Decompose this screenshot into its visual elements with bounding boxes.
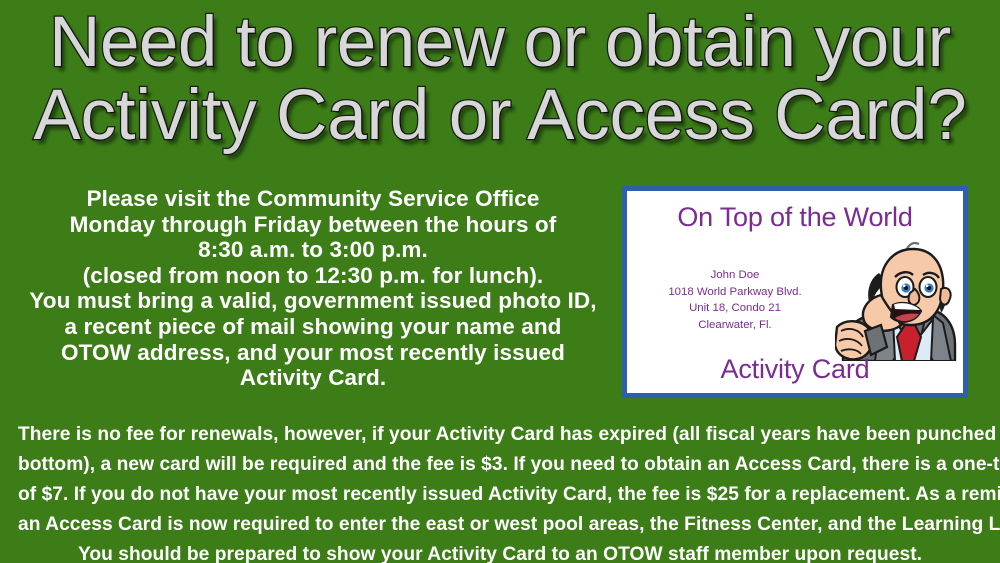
office-hours-info: Please visit the Community Service Offic…	[8, 186, 618, 391]
page-title: Need to renew or obtain your Activity Ca…	[0, 6, 1000, 152]
info-line: Please visit the Community Service Offic…	[8, 186, 618, 212]
info-line: (closed from noon to 12:30 p.m. for lunc…	[8, 263, 618, 289]
activity-card-footer: Activity Card	[627, 353, 963, 385]
cardholder-unit: Unit 18, Condo 21	[635, 300, 835, 317]
fees-and-policy-text: There is no fee for renewals, however, i…	[18, 420, 982, 563]
info-line: Activity Card.	[8, 365, 618, 391]
poster-canvas: Need to renew or obtain your Activity Ca…	[0, 0, 1000, 563]
policy-line: an Access Card is now required to enter …	[18, 510, 982, 540]
policy-line: You should be prepared to show your Acti…	[18, 540, 982, 563]
cardholder-city-state: Clearwater, Fl.	[635, 317, 835, 334]
cardholder-street: 1018 World Parkway Blvd.	[635, 284, 835, 301]
cardholder-name: John Doe	[635, 267, 835, 284]
cartoon-man-pointing-icon	[835, 233, 959, 361]
activity-card-title: On Top of the World	[627, 201, 963, 233]
info-line: Monday through Friday between the hours …	[8, 212, 618, 238]
activity-card-inner: On Top of the World John Doe 1018 World …	[627, 191, 963, 393]
info-line: a recent piece of mail showing your name…	[8, 314, 618, 340]
policy-line: bottom), a new card will be required and…	[18, 450, 982, 480]
activity-card-address: John Doe 1018 World Parkway Blvd. Unit 1…	[635, 267, 835, 333]
info-line: OTOW address, and your most recently iss…	[8, 340, 618, 366]
activity-card-sample: On Top of the World John Doe 1018 World …	[622, 186, 968, 398]
page-title-line-1: Need to renew or obtain your	[0, 6, 1000, 79]
policy-line: of $7. If you do not have your most rece…	[18, 480, 982, 510]
policy-line: There is no fee for renewals, however, i…	[18, 420, 982, 450]
info-line: You must bring a valid, government issue…	[8, 288, 618, 314]
info-line: 8:30 a.m. to 3:00 p.m.	[8, 237, 618, 263]
page-title-line-2: Activity Card or Access Card?	[0, 79, 1000, 152]
